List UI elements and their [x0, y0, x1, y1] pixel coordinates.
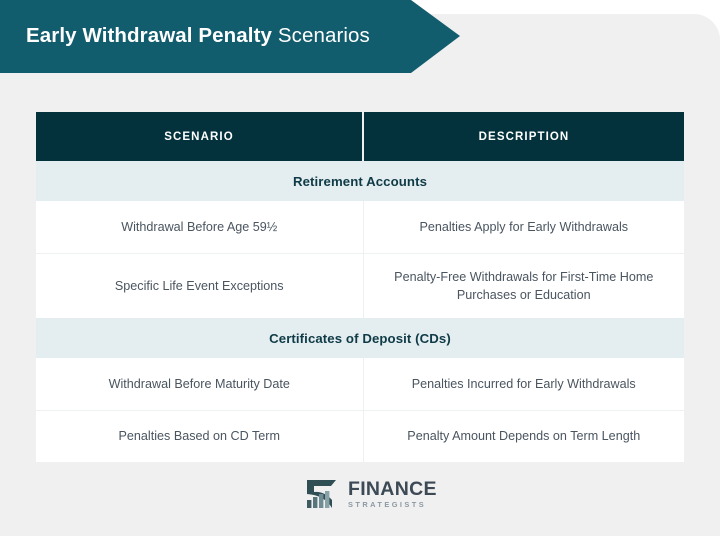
cell-scenario: Penalties Based on CD Term	[36, 410, 363, 462]
cell-description: Penalty-Free Withdrawals for First-Time …	[363, 253, 684, 318]
table-header: SCENARIO DESCRIPTION	[36, 112, 684, 161]
cell-description: Penalty Amount Depends on Term Length	[363, 410, 684, 462]
cell-description: Penalties Apply for Early Withdrawals	[363, 201, 684, 253]
section-heading: Certificates of Deposit (CDs)	[36, 318, 684, 358]
scenarios-table: SCENARIO DESCRIPTION Retirement Accounts…	[36, 112, 684, 462]
cell-scenario: Withdrawal Before Age 59½	[36, 201, 363, 253]
table-header-row: SCENARIO DESCRIPTION	[36, 112, 684, 161]
table-row: Withdrawal Before Maturity Date Penaltie…	[36, 358, 684, 410]
title-light-part: Scenarios	[278, 24, 370, 47]
brand-logo: FINANCE STRATEGISTS	[306, 479, 437, 509]
cell-scenario: Specific Life Event Exceptions	[36, 253, 363, 318]
infographic-page: Early Withdrawal Penalty Scenarios SCENA…	[0, 0, 720, 536]
logo-secondary-text: STRATEGISTS	[348, 501, 437, 508]
section-heading: Retirement Accounts	[36, 161, 684, 201]
column-header-description: DESCRIPTION	[363, 112, 684, 161]
table-row: Withdrawal Before Age 59½ Penalties Appl…	[36, 201, 684, 253]
logo-primary-text: FINANCE	[348, 480, 437, 500]
section-header-row: Retirement Accounts	[36, 161, 684, 201]
section-header-row: Certificates of Deposit (CDs)	[36, 318, 684, 358]
title-banner: Early Withdrawal Penalty Scenarios	[0, 0, 460, 73]
cell-scenario: Withdrawal Before Maturity Date	[36, 358, 363, 410]
logo-wordmark: FINANCE STRATEGISTS	[348, 480, 437, 509]
chart-bars-icon	[306, 479, 342, 509]
title-bold-part: Early Withdrawal Penalty	[26, 24, 272, 47]
column-header-scenario: SCENARIO	[36, 112, 363, 161]
page-title: Early Withdrawal Penalty Scenarios	[0, 25, 370, 48]
table-row: Specific Life Event Exceptions Penalty-F…	[36, 253, 684, 318]
cell-description: Penalties Incurred for Early Withdrawals	[363, 358, 684, 410]
table-row: Penalties Based on CD Term Penalty Amoun…	[36, 410, 684, 462]
table-body: Retirement Accounts Withdrawal Before Ag…	[36, 161, 684, 462]
